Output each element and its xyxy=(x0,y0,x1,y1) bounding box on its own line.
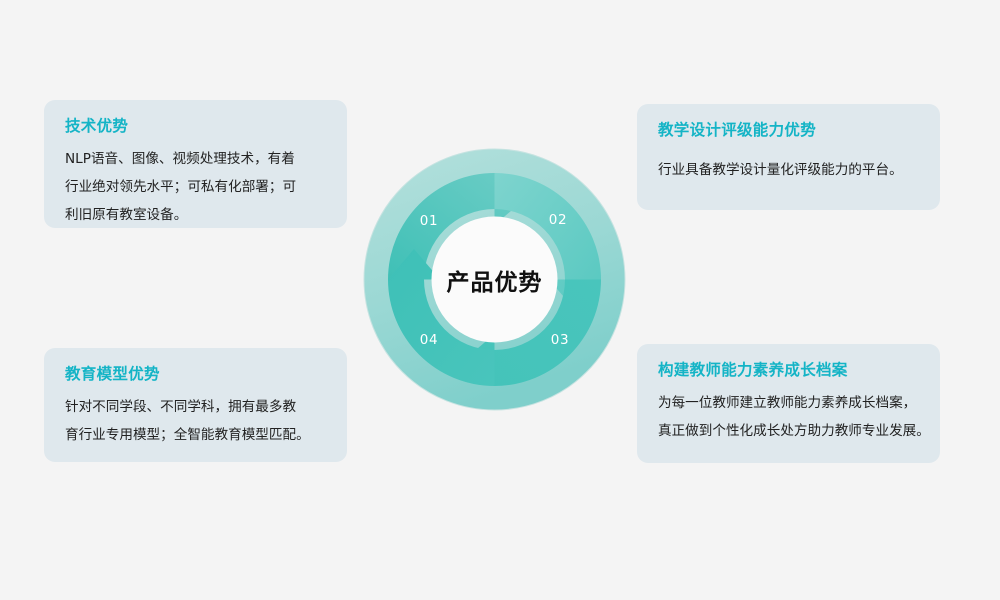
donut-svg: 01 02 03 04 xyxy=(362,147,627,412)
ring-segment-03-number: 03 xyxy=(551,332,569,348)
card-body: NLP语音、图像、视频处理技术，有着 行业绝对领先水平；可私有化部署；可 利旧原… xyxy=(65,145,327,229)
product-advantage-donut-diagram: 01 02 03 04 产品优势 xyxy=(362,147,627,412)
card-title: 教学设计评级能力优势 xyxy=(658,120,920,140)
card-technology-advantage: 技术优势 NLP语音、图像、视频处理技术，有着 行业绝对领先水平；可私有化部署；… xyxy=(44,100,347,228)
ring-segment-04-number: 04 xyxy=(420,332,438,348)
card-body-line: 为每一位教师建立教师能力素养成长档案， xyxy=(658,389,920,417)
ring-segment-01-number: 01 xyxy=(420,213,438,229)
donut-center-disc xyxy=(432,217,558,343)
card-body-line: 行业绝对领先水平；可私有化部署；可 xyxy=(65,173,327,201)
card-body: 行业具备教学设计量化评级能力的平台。 xyxy=(658,156,920,184)
card-body-line: 针对不同学段、不同学科，拥有最多教 xyxy=(65,393,327,421)
card-body: 为每一位教师建立教师能力素养成长档案， 真正做到个性化成长处方助力教师专业发展。 xyxy=(658,389,920,445)
infographic-stage: 技术优势 NLP语音、图像、视频处理技术，有着 行业绝对领先水平；可私有化部署；… xyxy=(0,0,1000,600)
ring-segment-02-number: 02 xyxy=(549,212,567,228)
card-body: 针对不同学段、不同学科，拥有最多教 育行业专用模型；全智能教育模型匹配。 xyxy=(65,393,327,449)
card-body-line: 育行业专用模型；全智能教育模型匹配。 xyxy=(65,421,327,449)
card-body-line: 行业具备教学设计量化评级能力的平台。 xyxy=(658,156,920,184)
card-title: 构建教师能力素养成长档案 xyxy=(658,360,920,380)
card-education-model-advantage: 教育模型优势 针对不同学段、不同学科，拥有最多教 育行业专用模型；全智能教育模型… xyxy=(44,348,347,462)
card-teaching-design-rating-advantage: 教学设计评级能力优势 行业具备教学设计量化评级能力的平台。 xyxy=(637,104,940,210)
card-body-line: 真正做到个性化成长处方助力教师专业发展。 xyxy=(658,417,920,445)
card-title: 技术优势 xyxy=(65,116,327,136)
card-body-line: NLP语音、图像、视频处理技术，有着 xyxy=(65,145,327,173)
card-body-line: 利旧原有教室设备。 xyxy=(65,201,327,229)
card-teacher-growth-archive: 构建教师能力素养成长档案 为每一位教师建立教师能力素养成长档案， 真正做到个性化… xyxy=(637,344,940,463)
card-title: 教育模型优势 xyxy=(65,364,327,384)
